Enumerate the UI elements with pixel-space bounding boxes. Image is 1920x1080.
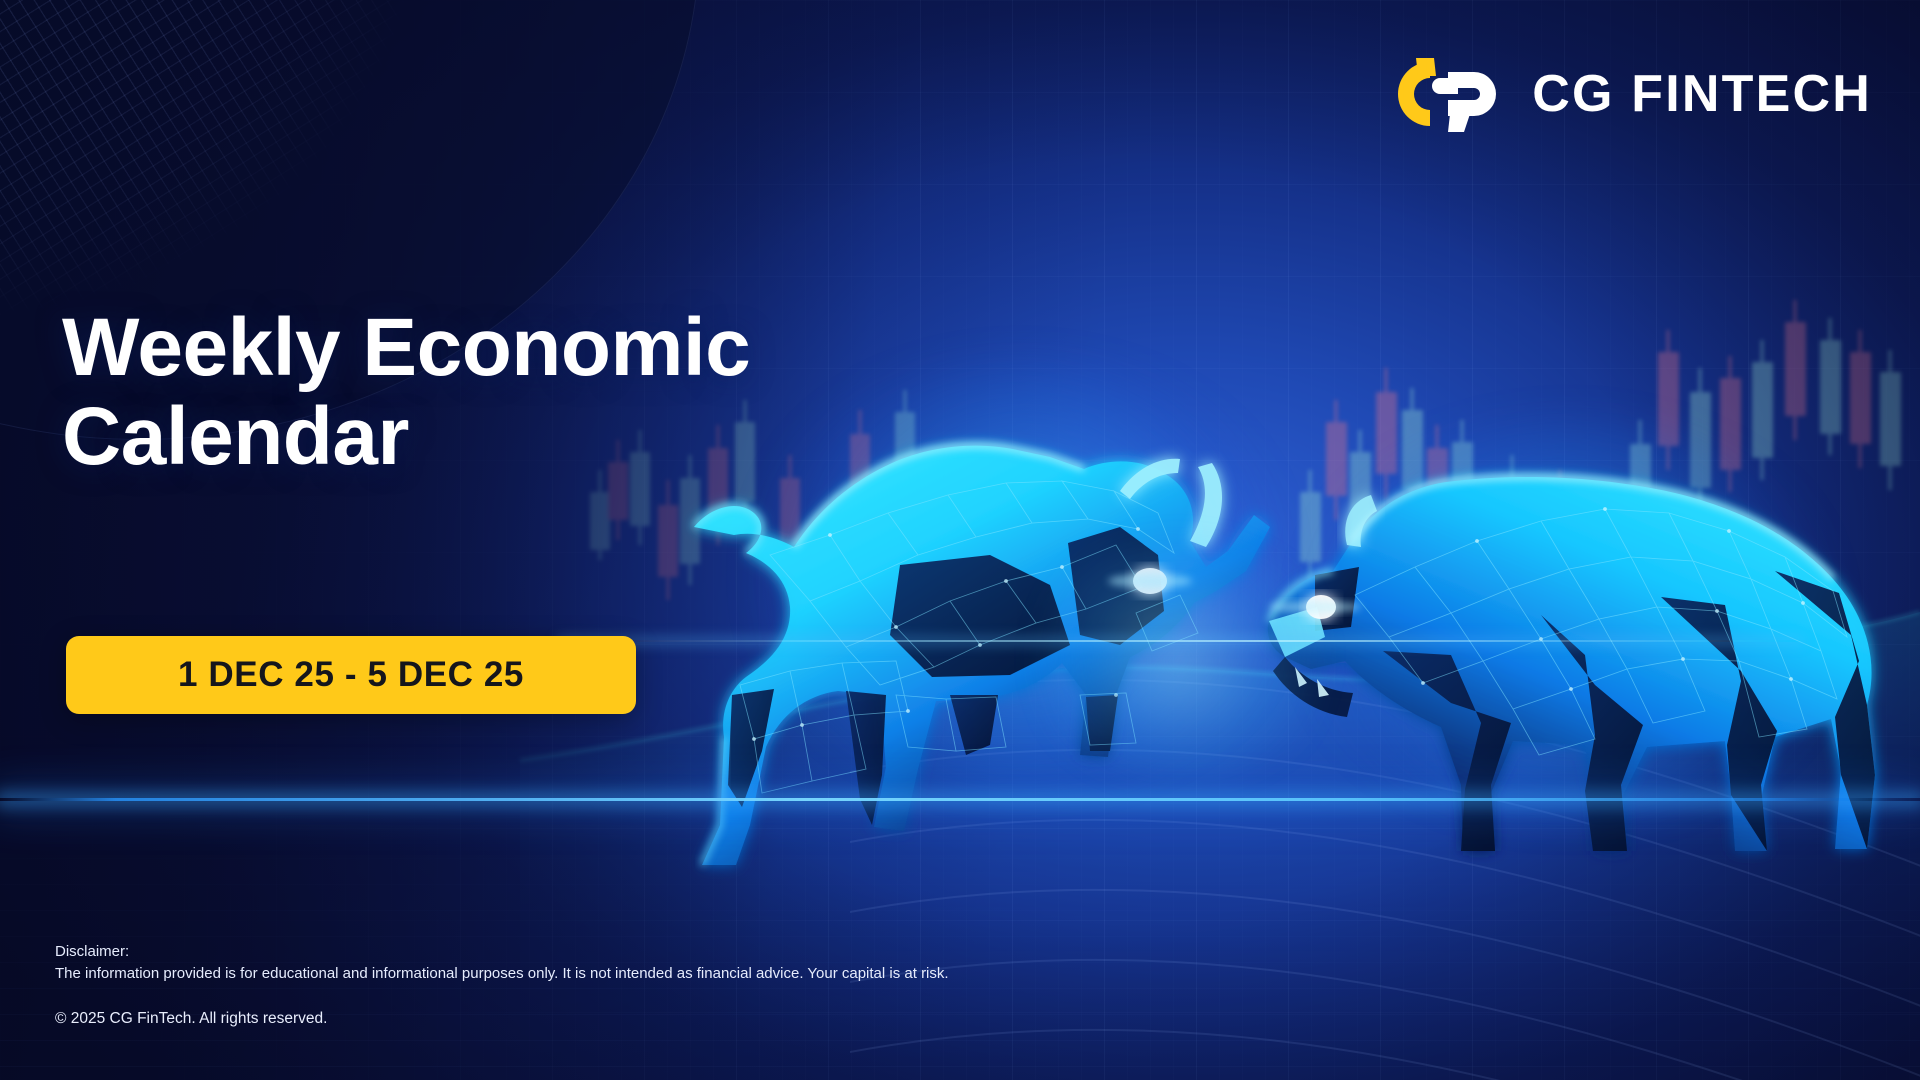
horizon-glow-line	[0, 798, 1920, 801]
cg-logo-icon	[1378, 56, 1506, 132]
disclaimer-label: Disclaimer:	[55, 941, 949, 962]
low-poly-bear-illustration	[1255, 455, 1915, 875]
footer: Disclaimer: The information provided is …	[55, 941, 949, 1028]
copyright-text: © 2025 CG FinTech. All rights reserved.	[55, 1010, 949, 1028]
upper-glow-line	[560, 640, 1800, 642]
date-range-badge[interactable]: 1 DEC 25 - 5 DEC 25	[66, 636, 636, 714]
poster-canvas: CG FINTECH Weekly Economic Calendar 1 DE…	[0, 0, 1920, 1080]
brand-wordmark: CG FINTECH	[1532, 68, 1872, 120]
disclaimer-text: The information provided is for educatio…	[55, 963, 949, 984]
brand-logo[interactable]: CG FINTECH	[1378, 56, 1872, 132]
page-title: Weekly Economic Calendar	[62, 303, 1042, 482]
